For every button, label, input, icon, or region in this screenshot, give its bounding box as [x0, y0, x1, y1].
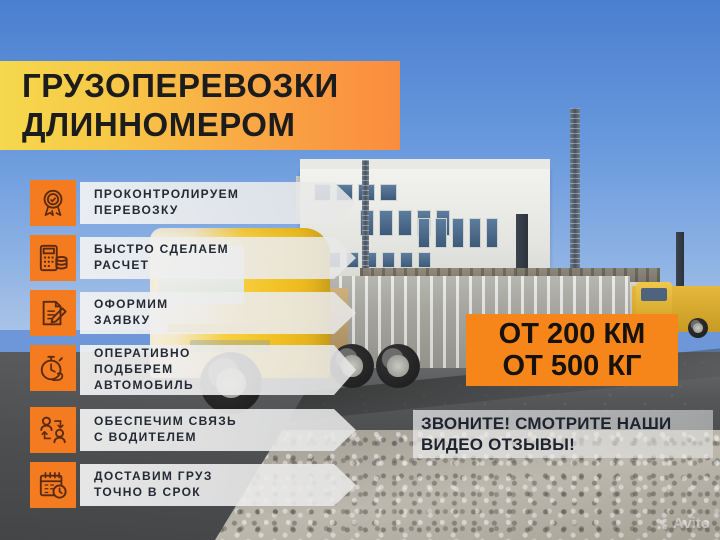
- avito-logo-icon: [655, 517, 669, 531]
- second-truck-windshield: [641, 288, 667, 301]
- feature-item-calculation: БЫСТРО СДЕЛАЕМ РАСЧЕТ: [30, 235, 370, 290]
- feature-text-line-2: С ВОДИТЕЛЕМ: [94, 430, 356, 446]
- window-row: [418, 218, 498, 248]
- feature-text-line-1: ОФОРМИМ: [94, 297, 356, 313]
- feature-text-line-2: РАСЧЕТ: [94, 258, 356, 274]
- second-truck-wheel: [688, 318, 708, 338]
- price-conditions-block: ОТ 200 КМ ОТ 500 КГ: [466, 314, 678, 386]
- avito-watermark: Avito: [655, 515, 710, 532]
- weight-unit: КГ: [607, 350, 641, 382]
- feature-plate: ДОСТАВИМ ГРУЗ ТОЧНО В СРОК: [80, 464, 356, 506]
- headline-banner: ГРУЗОПЕРЕВОЗКИ ДЛИННОМЕРОМ: [0, 61, 400, 150]
- feature-text-line-1: БЫСТРО СДЕЛАЕМ: [94, 242, 356, 258]
- award-badge-icon: [30, 180, 76, 226]
- feature-text-line-2: ТОЧНО В СРОК: [94, 485, 356, 501]
- feature-list: ПРОКОНТРОЛИРУЕМ ПЕРЕВОЗКУ: [30, 180, 370, 517]
- advert-image: ГРУЗОПЕРЕВОЗКИ ДЛИННОМЕРОМ ПРОКОНТРОЛИРУ…: [0, 0, 720, 540]
- feature-text-line-2: ПОДБЕРЕМ: [94, 362, 356, 378]
- distance-value: 200: [547, 318, 595, 350]
- feature-item-control: ПРОКОНТРОЛИРУЕМ ПЕРЕВОЗКУ: [30, 180, 370, 235]
- calendar-clock-icon: [30, 462, 76, 508]
- call-to-action: ЗВОНИТЕ! СМОТРИТЕ НАШИ ВИДЕО ОТЗЫВЫ!: [413, 410, 713, 458]
- minimum-distance: ОТ 200 КМ: [499, 318, 646, 350]
- weight-value: 500: [551, 350, 599, 382]
- headline-line-1: ГРУЗОПЕРЕВОЗКИ: [22, 67, 400, 106]
- distance-unit: КМ: [603, 318, 645, 350]
- minimum-weight: ОТ 500 КГ: [503, 350, 642, 382]
- cta-line-2: ВИДЕО ОТЗЫВЫ!: [421, 434, 713, 455]
- avito-watermark-text: Avito: [673, 515, 710, 532]
- feature-text-line-1: ПРОКОНТРОЛИРУЕМ: [94, 187, 356, 203]
- cta-line-1: ЗВОНИТЕ! СМОТРИТЕ НАШИ: [421, 413, 713, 434]
- weight-prefix: ОТ: [503, 350, 543, 382]
- feature-plate: ОПЕРАТИВНО ПОДБЕРЕМ АВТОМОБИЛЬ: [80, 345, 356, 395]
- two-people-icon: [30, 407, 76, 453]
- feature-text-line-2: ПЕРЕВОЗКУ: [94, 203, 356, 219]
- feature-text-line-1: ОБЕСПЕЧИМ СВЯЗЬ: [94, 414, 356, 430]
- feature-plate: ПРОКОНТРОЛИРУЕМ ПЕРЕВОЗКУ: [80, 182, 356, 224]
- feature-text-line-1: ДОСТАВИМ ГРУЗ: [94, 469, 356, 485]
- truck-wheel: [376, 344, 420, 388]
- feature-plate: БЫСТРО СДЕЛАЕМ РАСЧЕТ: [80, 237, 356, 279]
- feature-item-vehicle-selection: ОПЕРАТИВНО ПОДБЕРЕМ АВТОМОБИЛЬ: [30, 345, 370, 407]
- feature-plate: ОФОРМИМ ЗАЯВКУ: [80, 292, 356, 334]
- distance-prefix: ОТ: [499, 318, 539, 350]
- headline-line-2: ДЛИННОМЕРОМ: [22, 106, 400, 145]
- feature-plate: ОБЕСПЕЧИМ СВЯЗЬ С ВОДИТЕЛЕМ: [80, 409, 356, 451]
- feature-item-order: ОФОРМИМ ЗАЯВКУ: [30, 290, 370, 345]
- calculator-coins-icon: [30, 235, 76, 281]
- chimney-stack: [676, 232, 684, 290]
- document-pen-icon: [30, 290, 76, 336]
- feature-item-driver-contact: ОБЕСПЕЧИМ СВЯЗЬ С ВОДИТЕЛЕМ: [30, 407, 370, 462]
- feature-text-line-1: ОПЕРАТИВНО: [94, 346, 356, 362]
- feature-text-line-2: ЗАЯВКУ: [94, 313, 356, 329]
- feature-text-line-3: АВТОМОБИЛЬ: [94, 378, 356, 394]
- feature-item-on-time-delivery: ДОСТАВИМ ГРУЗ ТОЧНО В СРОК: [30, 462, 370, 517]
- stopwatch-hand-icon: [30, 345, 76, 391]
